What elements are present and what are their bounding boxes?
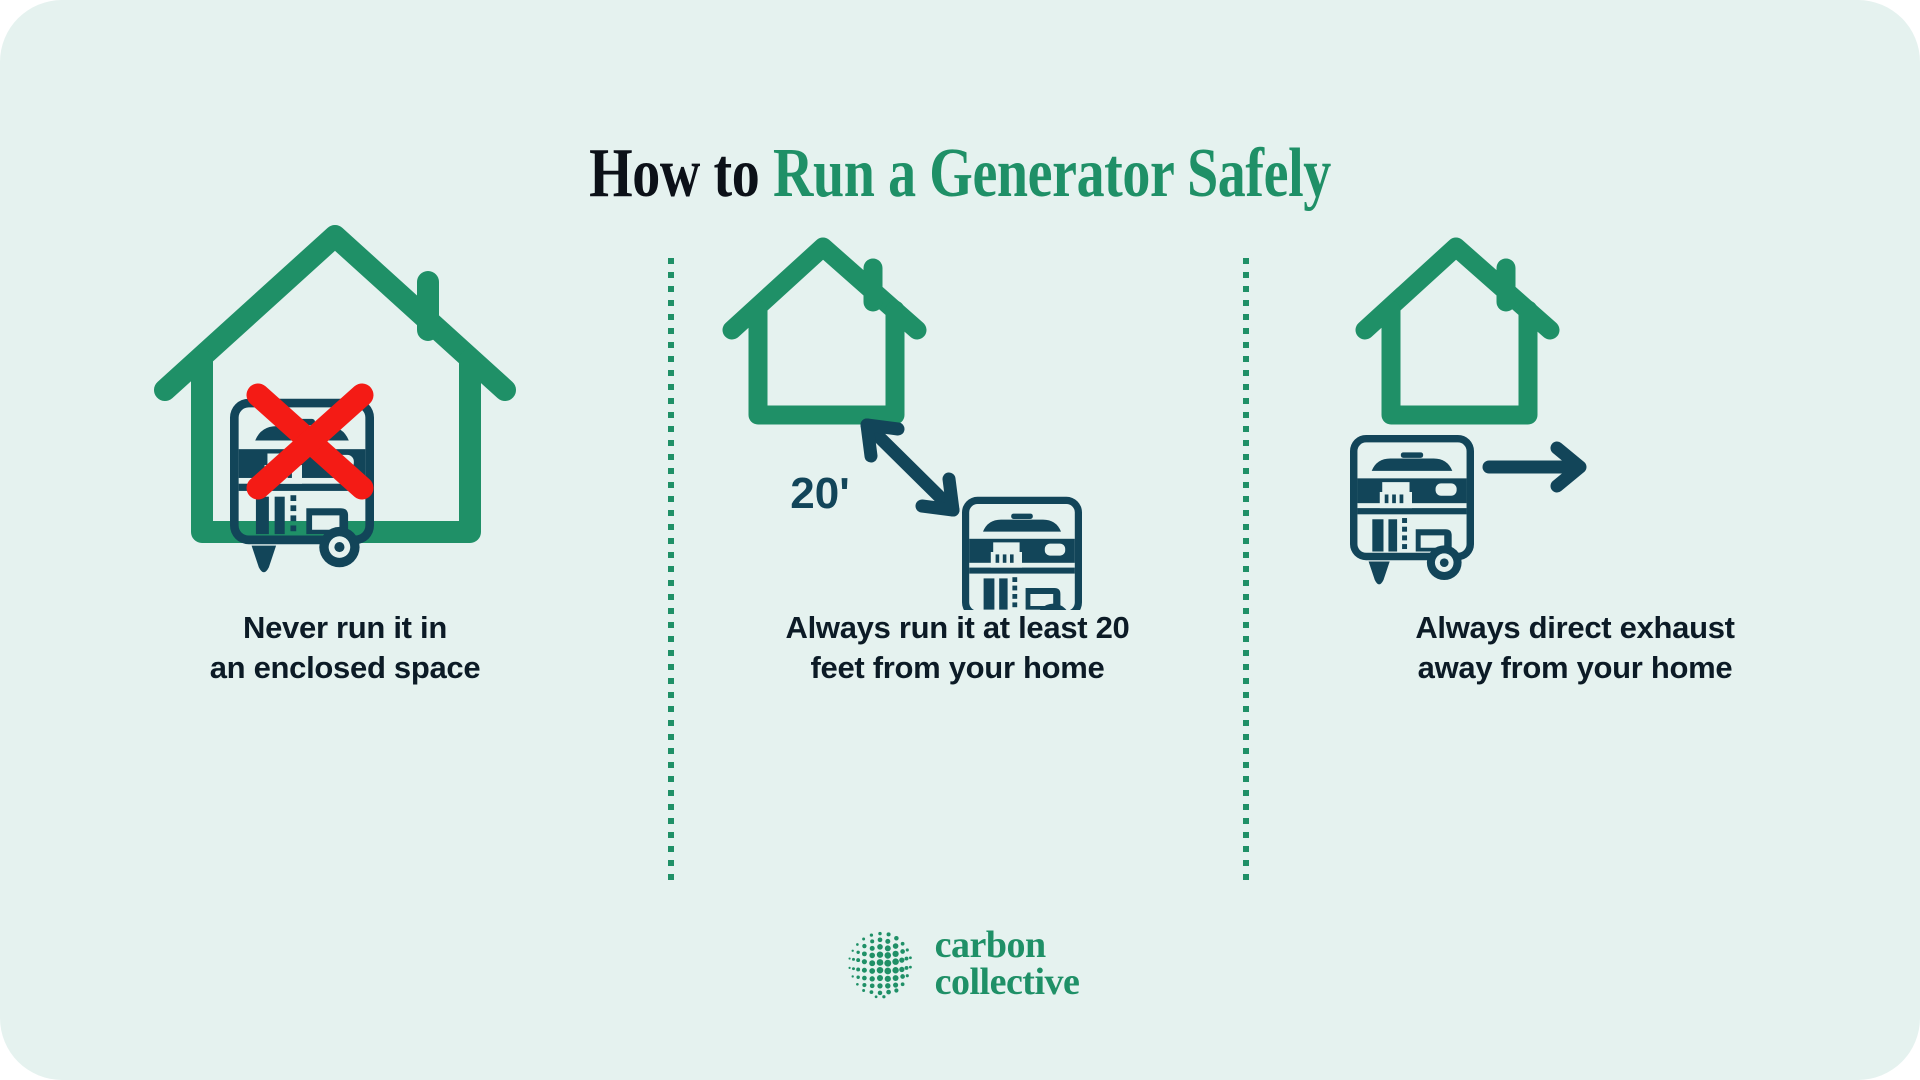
panel-2-caption: Always run it at least 20 feet from your… — [680, 608, 1235, 688]
generator-icon — [962, 497, 1082, 610]
brand-wordmark-line-1: carbon — [935, 927, 1080, 964]
distance-label: 20' — [790, 469, 849, 518]
panel-2-caption-line-2: feet from your home — [680, 648, 1235, 688]
panel-divider-1 — [668, 258, 674, 882]
page-title-part-green: Run a Generator Safely — [773, 135, 1331, 212]
panel-3-artwork — [1255, 210, 1895, 640]
house-generator-exhaust-diagram — [1255, 210, 1895, 610]
double-arrow-icon — [867, 425, 953, 510]
brand-logo: carbon collective — [0, 925, 1920, 1003]
panel-divider-2 — [1243, 258, 1249, 882]
panel-3-caption-line-2: away from your home — [1255, 648, 1895, 688]
panel-3-caption-line-1: Always direct exhaust — [1255, 608, 1895, 648]
house-outline-icon — [732, 247, 917, 415]
panel-no-enclosed-space: Never run it in an enclosed space — [30, 210, 660, 910]
brand-wordmark-line-2: collective — [935, 964, 1080, 1001]
panel-1-caption-line-1: Never run it in — [30, 608, 660, 648]
infographic-canvas: How to Run a Generator Safely — [0, 0, 1920, 1080]
panel-3-caption: Always direct exhaust away from your hom… — [1255, 608, 1895, 688]
house-generator-distance-diagram: 20' — [680, 210, 1235, 610]
panel-direct-exhaust-away: Always direct exhaust away from your hom… — [1255, 210, 1895, 910]
panel-twenty-feet-away: 20' — [680, 210, 1235, 910]
panel-1-caption-line-2: an enclosed space — [30, 648, 660, 688]
panel-1-artwork — [30, 210, 660, 640]
page-title: How to Run a Generator Safely — [192, 135, 1728, 213]
panel-1-caption: Never run it in an enclosed space — [30, 608, 660, 688]
arrow-right-icon — [1489, 448, 1580, 486]
house-outline-icon — [1365, 247, 1550, 415]
page-title-part-dark: How to — [589, 135, 773, 212]
panel-2-caption-line-1: Always run it at least 20 — [680, 608, 1235, 648]
panel-2-artwork: 20' — [680, 210, 1235, 640]
brand-wordmark: carbon collective — [935, 927, 1080, 1001]
house-with-generator-crossed-out — [30, 210, 660, 610]
dotted-circle-icon — [841, 925, 919, 1003]
generator-icon — [1350, 435, 1474, 584]
